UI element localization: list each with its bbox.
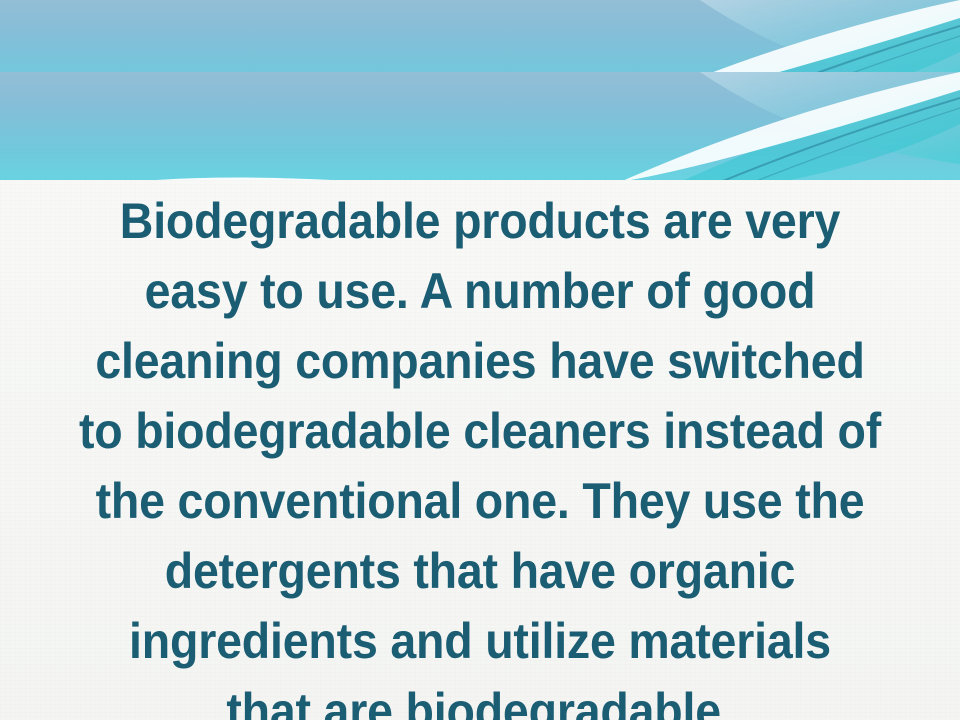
slide-canvas: Biodegradable products are very easy to …: [0, 0, 960, 720]
body-line: Biodegradable products are very: [54, 186, 906, 256]
body-line-clipped: that are biodegradable.: [54, 676, 906, 720]
wave-artwork-bottom: [0, 72, 960, 180]
body-line: easy to use. A number of good: [54, 256, 906, 326]
body-line: to biodegradable cleaners instead of: [54, 396, 906, 466]
body-line: the conventional one. They use the: [54, 466, 906, 536]
slide-body-text: Biodegradable products are very easy to …: [0, 186, 960, 720]
body-line: cleaning companies have switched: [54, 326, 906, 396]
banner-band-bottom: [0, 72, 960, 180]
body-line: detergents that have organic: [54, 536, 906, 606]
body-line: ingredients and utilize materials: [54, 606, 906, 676]
wave-artwork-top: [0, 0, 960, 72]
decorative-wave-banner: [0, 0, 960, 180]
banner-band-top: [0, 0, 960, 72]
